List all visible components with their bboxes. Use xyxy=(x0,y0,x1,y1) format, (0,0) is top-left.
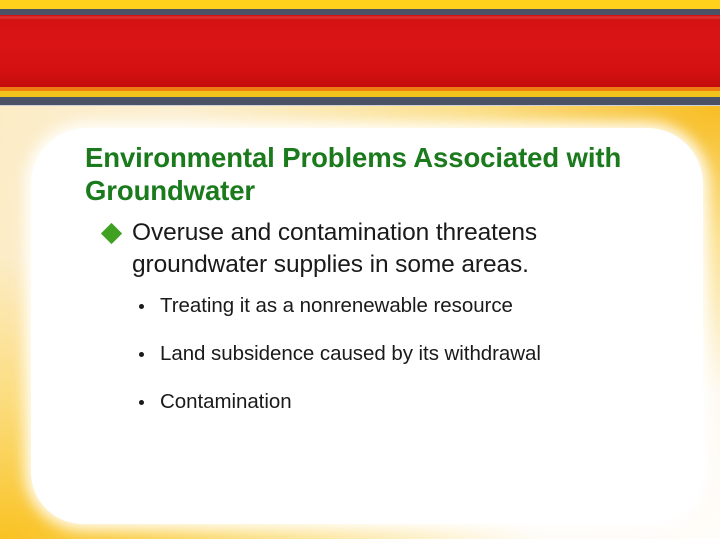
banner-hairline xyxy=(0,105,720,106)
banner-stripe-slate-bottom xyxy=(0,97,720,105)
banner-stripe-red xyxy=(0,15,720,87)
sub-bullet-item: Treating it as a nonrenewable resource xyxy=(139,293,659,319)
decorative-top-banner xyxy=(0,0,720,106)
diamond-bullet-icon xyxy=(101,223,122,244)
round-bullet-icon xyxy=(139,352,144,357)
bullet-primary-text: Overuse and contamination threatens grou… xyxy=(132,217,664,281)
round-bullet-icon xyxy=(139,400,144,405)
sub-bullet-text: Contamination xyxy=(160,389,292,415)
slide-title: Environmental Problems Associated with G… xyxy=(85,141,669,207)
banner-stripe-red-highlight xyxy=(0,16,720,19)
bullet-item-primary: Overuse and contamination threatens grou… xyxy=(104,217,664,281)
sub-bullet-text: Land subsidence caused by its withdrawal xyxy=(160,341,541,367)
sub-bullet-list: Treating it as a nonrenewable resource L… xyxy=(139,293,659,437)
slide-content: Environmental Problems Associated with G… xyxy=(31,128,703,524)
sub-bullet-item: Land subsidence caused by its withdrawal xyxy=(139,341,659,367)
slide-canvas: Environmental Problems Associated with G… xyxy=(0,0,720,539)
round-bullet-icon xyxy=(139,304,144,309)
sub-bullet-text: Treating it as a nonrenewable resource xyxy=(160,293,513,319)
banner-stripe-yellow-top xyxy=(0,0,720,9)
sub-bullet-item: Contamination xyxy=(139,389,659,415)
